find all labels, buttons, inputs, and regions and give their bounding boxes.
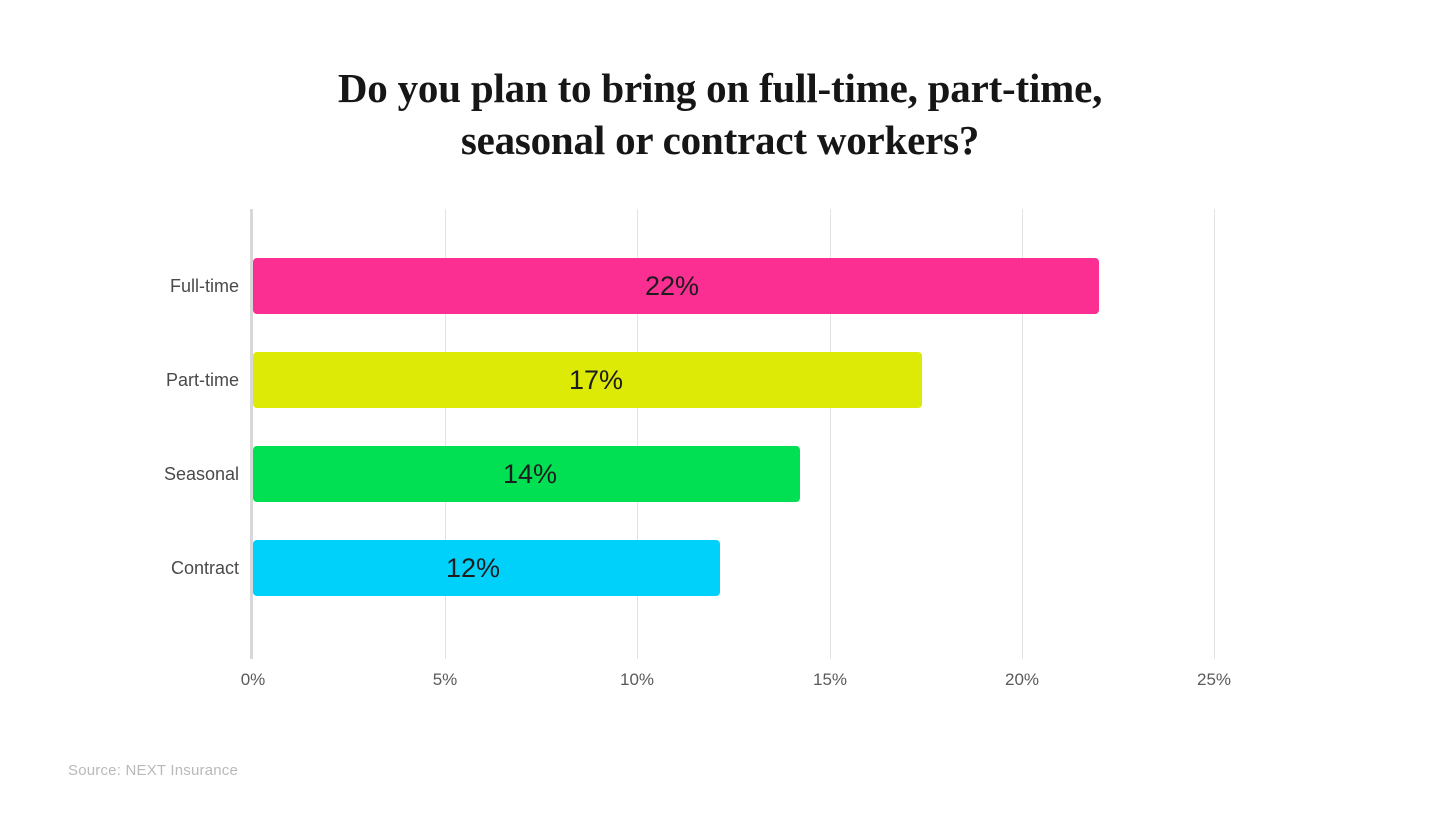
x-tick-label-20: 20% [1005, 670, 1039, 690]
chart-title: Do you plan to bring on full-time, part-… [220, 62, 1220, 166]
x-tick-label-15: 15% [813, 670, 847, 690]
bar-value-full-time: 22% [645, 258, 699, 314]
bar-value-part-time: 17% [569, 352, 623, 408]
gridline-25 [1214, 209, 1215, 659]
x-tick-label-5: 5% [433, 670, 458, 690]
category-label-part-time: Part-time [166, 352, 239, 408]
bar-value-contract: 12% [446, 540, 500, 596]
x-tick-label-10: 10% [620, 670, 654, 690]
source-note: Source: NEXT Insurance [68, 762, 238, 779]
plot-area: 22% 17% 14% 12% [253, 209, 1214, 659]
bars-layer: 22% 17% 14% 12% [253, 209, 1214, 659]
category-label-full-time: Full-time [170, 258, 239, 314]
chart-title-line-1: Do you plan to bring on full-time, part-… [220, 62, 1220, 114]
category-axis-labels: Full-time Part-time Seasonal Contract [100, 209, 239, 659]
category-label-seasonal: Seasonal [164, 446, 239, 502]
chart-container: Do you plan to bring on full-time, part-… [0, 0, 1440, 816]
chart-title-line-2: seasonal or contract workers? [220, 114, 1220, 166]
bar-value-seasonal: 14% [503, 446, 557, 502]
x-tick-label-25: 25% [1197, 670, 1231, 690]
category-label-contract: Contract [171, 540, 239, 596]
x-axis-tick-labels: 0% 5% 10% 15% 20% 25% [253, 670, 1214, 700]
x-tick-label-0: 0% [241, 670, 266, 690]
